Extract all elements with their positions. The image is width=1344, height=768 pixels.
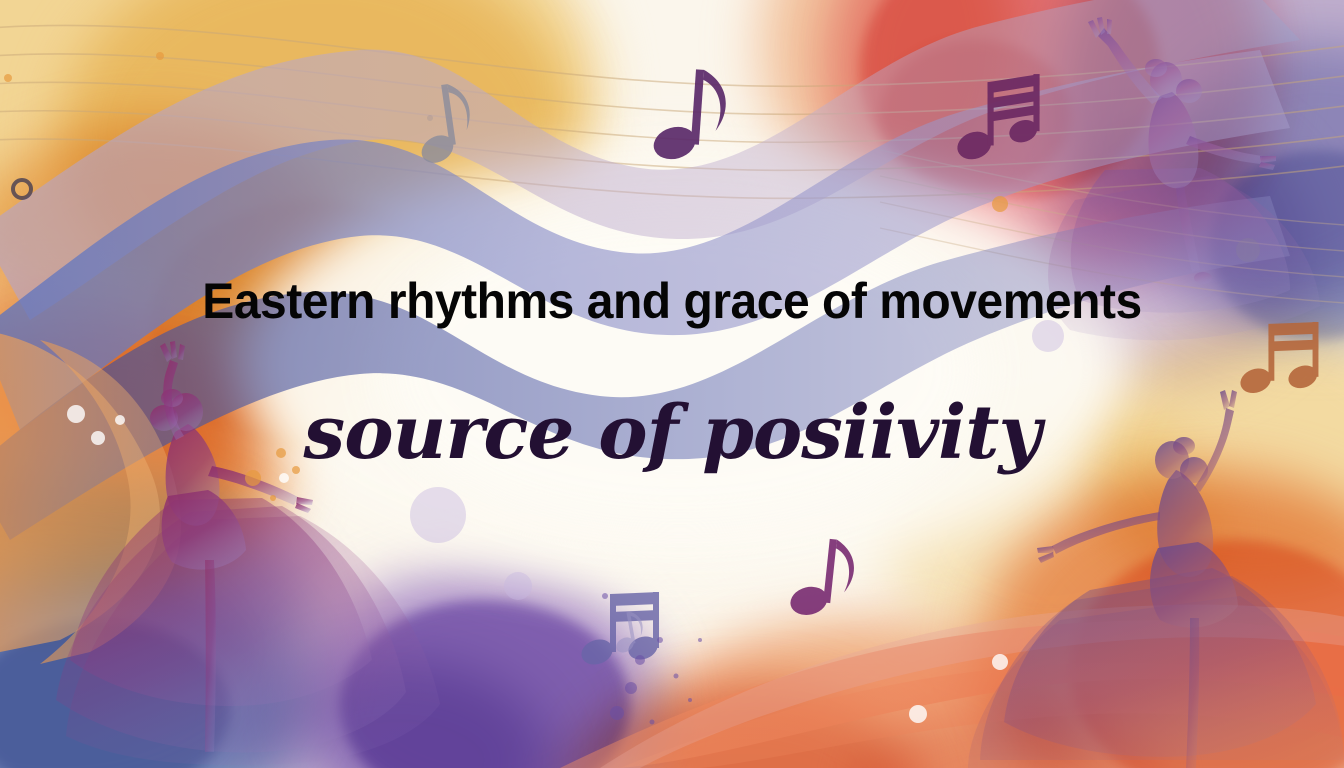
ribbon-blue-upper xyxy=(0,50,1290,430)
poster-canvas: Eastern rhythms and grace of movements s… xyxy=(0,0,1344,768)
note-beamed-blue-bottom xyxy=(578,592,661,669)
paint-speckles xyxy=(0,0,1344,768)
page-subtitle: source of posiivity xyxy=(0,390,1344,476)
note-beamed-magenta-top xyxy=(953,74,1040,164)
note-eighth-purple-top xyxy=(648,66,728,168)
page-title: Eastern rhythms and grace of movements xyxy=(27,272,1317,330)
note-eighth-purple-bottom xyxy=(785,535,857,624)
ribbon-orange-left xyxy=(0,330,160,656)
note-eighth-gray-top xyxy=(409,82,477,170)
music-notes xyxy=(0,0,1344,768)
music-staff-lines xyxy=(0,0,1344,768)
note-eighth-lavender-left xyxy=(608,610,647,656)
ribbon-indigo-lower xyxy=(0,196,1290,540)
ribbon-coral-bottom xyxy=(560,620,1344,768)
note-beamed-brown-right xyxy=(1237,322,1320,397)
dancer-silhouettes xyxy=(0,0,1344,768)
ribbon-dot-detail xyxy=(13,180,31,198)
watercolor-ribbons xyxy=(0,0,1344,768)
